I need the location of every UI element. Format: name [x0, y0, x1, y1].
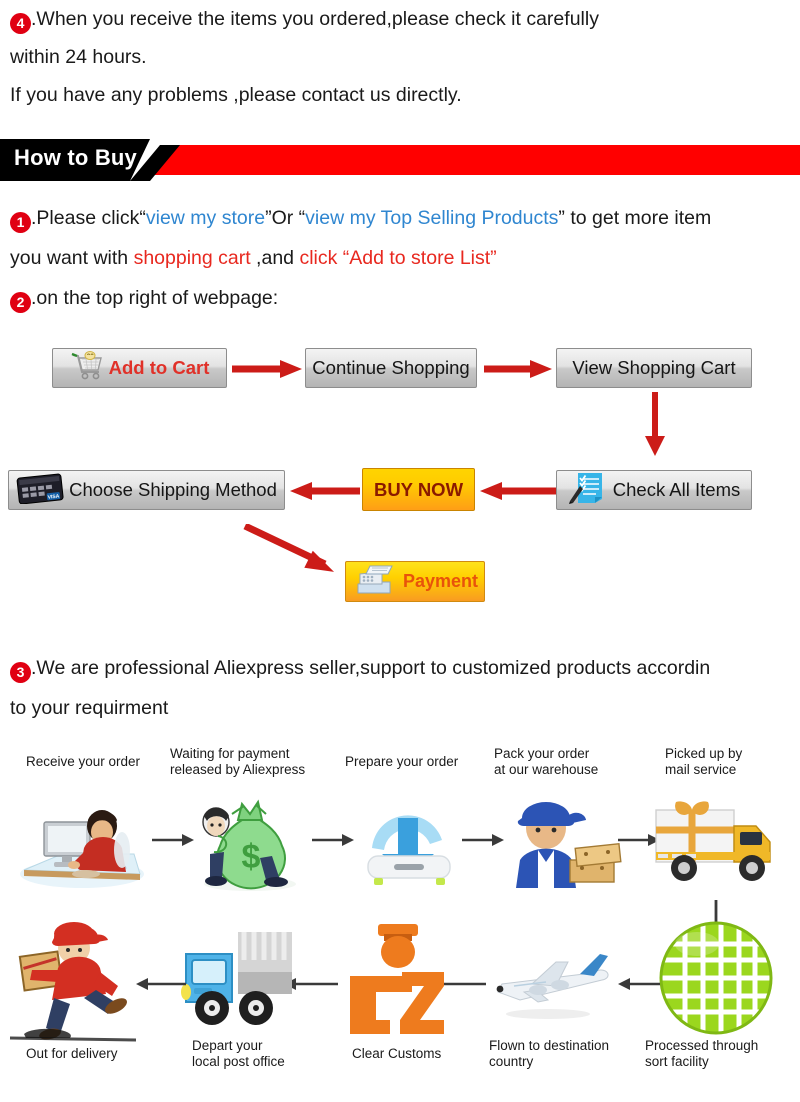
view-shopping-cart-label: View Shopping Cart: [572, 357, 735, 379]
prepare-order-download-icon: [352, 792, 464, 893]
ship-top-label-5-line2: mail service: [665, 762, 795, 778]
cash-register-icon: [352, 562, 398, 601]
ship-top-label-4: Pack your order at our warehouse: [494, 746, 644, 778]
ship-top-label-4-line1: Pack your order: [494, 746, 644, 762]
ship-bottom-label-5-line2: sort facility: [645, 1054, 800, 1070]
ship-top-label-5-line1: Picked up by: [665, 746, 795, 762]
step-3-line-1: 3.We are professional Aliexpress seller,…: [0, 648, 800, 688]
continue-shopping-button[interactable]: Continue Shopping: [305, 348, 477, 388]
ship-arrow-5: [608, 976, 660, 997]
svg-text:$: $: [242, 838, 261, 876]
ship-bottom-label-5: Processed through sort facility: [645, 1038, 800, 1070]
ship-top-label-5: Picked up by mail service: [665, 746, 795, 778]
step-3-block: 3.We are professional Aliexpress seller,…: [0, 648, 800, 728]
ship-bottom-label-3: Clear Customs: [352, 1046, 492, 1062]
ship-bottom-label-2-line1: Depart your: [192, 1038, 342, 1054]
ship-top-label-2-line1: Waiting for payment: [170, 746, 330, 762]
ship-top-label-1: Receive your order: [26, 754, 166, 770]
airplane-icon: [484, 940, 610, 1029]
arrow-check-items-to-buynow: [478, 480, 556, 502]
ship-bottom-label-2-line2: local post office: [192, 1054, 342, 1070]
svg-text:VISA: VISA: [48, 493, 61, 500]
add-to-cart-button[interactable]: Add to Cart: [52, 348, 227, 388]
check-all-items-button[interactable]: Check All Items: [556, 470, 752, 510]
arrow-continue-to-view-cart: [484, 358, 554, 380]
ship-top-label-2-line2: released by Aliexpress: [170, 762, 330, 778]
choose-shipping-method-label: Choose Shipping Method: [69, 479, 277, 501]
payment-label: Payment: [403, 571, 478, 592]
arrow-view-cart-to-check-items: [643, 392, 667, 458]
ship-top-label-1-line1: Receive your order: [26, 754, 166, 770]
globe-sort-facility-icon: [655, 918, 777, 1043]
ship-top-label-3: Prepare your order: [345, 754, 485, 770]
step-badge-3: 3: [10, 662, 31, 683]
delivery-truck-gift-icon: [650, 796, 790, 897]
arrow-buynow-to-shipping: [288, 480, 360, 502]
ship-bottom-label-5-line1: Processed through: [645, 1038, 800, 1054]
money-bag-icon: $: [188, 788, 310, 897]
banner-title: How to Buy: [14, 145, 137, 171]
step-3-line-2: to your requirment: [0, 688, 800, 728]
checklist-icon: [568, 471, 608, 510]
shopping-cart-icon: [70, 351, 104, 386]
view-shopping-cart-button[interactable]: View Shopping Cart: [556, 348, 752, 388]
delivery-man-running-icon: [8, 908, 138, 1047]
customs-officer-icon: [340, 920, 452, 1047]
ship-bottom-label-3-line1: Clear Customs: [352, 1046, 492, 1062]
person-at-computer-icon: [14, 792, 150, 895]
ship-top-label-3-line1: Prepare your order: [345, 754, 485, 770]
step3-line1-text: .We are professional Aliexpress seller,s…: [31, 657, 710, 679]
ship-bottom-label-4-line1: Flown to destination: [489, 1038, 649, 1054]
ship-bottom-label-4: Flown to destination country: [489, 1038, 649, 1070]
arrow-cart-to-continue: [232, 358, 304, 380]
credit-card-icon: VISA: [16, 472, 64, 509]
ship-bottom-label-1: Out for delivery: [26, 1046, 166, 1062]
ship-top-label-4-line2: at our warehouse: [494, 762, 644, 778]
ship-top-label-2: Waiting for payment released by Aliexpre…: [170, 746, 330, 778]
post-office-truck-icon: [178, 910, 304, 1041]
choose-shipping-method-button[interactable]: VISA Choose Shipping Method: [8, 470, 285, 510]
check-all-items-label: Check All Items: [613, 479, 741, 501]
ship-bottom-label-1-line1: Out for delivery: [26, 1046, 166, 1062]
add-to-cart-label: Add to Cart: [109, 357, 210, 379]
buy-now-label: BUY NOW: [374, 479, 463, 501]
warehouse-worker-icon: [498, 788, 628, 897]
buy-now-button[interactable]: BUY NOW: [362, 468, 475, 511]
ship-arrow-2: [312, 832, 354, 853]
ship-bottom-label-4-line2: country: [489, 1054, 649, 1070]
arrow-shipping-to-payment: [243, 524, 353, 576]
payment-button[interactable]: Payment: [345, 561, 485, 602]
ship-bottom-label-2: Depart your local post office: [192, 1038, 342, 1070]
ship-arrow-8: [130, 976, 186, 997]
shipping-process-diagram: Receive your order Waiting for payment r…: [0, 740, 800, 1102]
continue-shopping-label: Continue Shopping: [312, 357, 469, 379]
